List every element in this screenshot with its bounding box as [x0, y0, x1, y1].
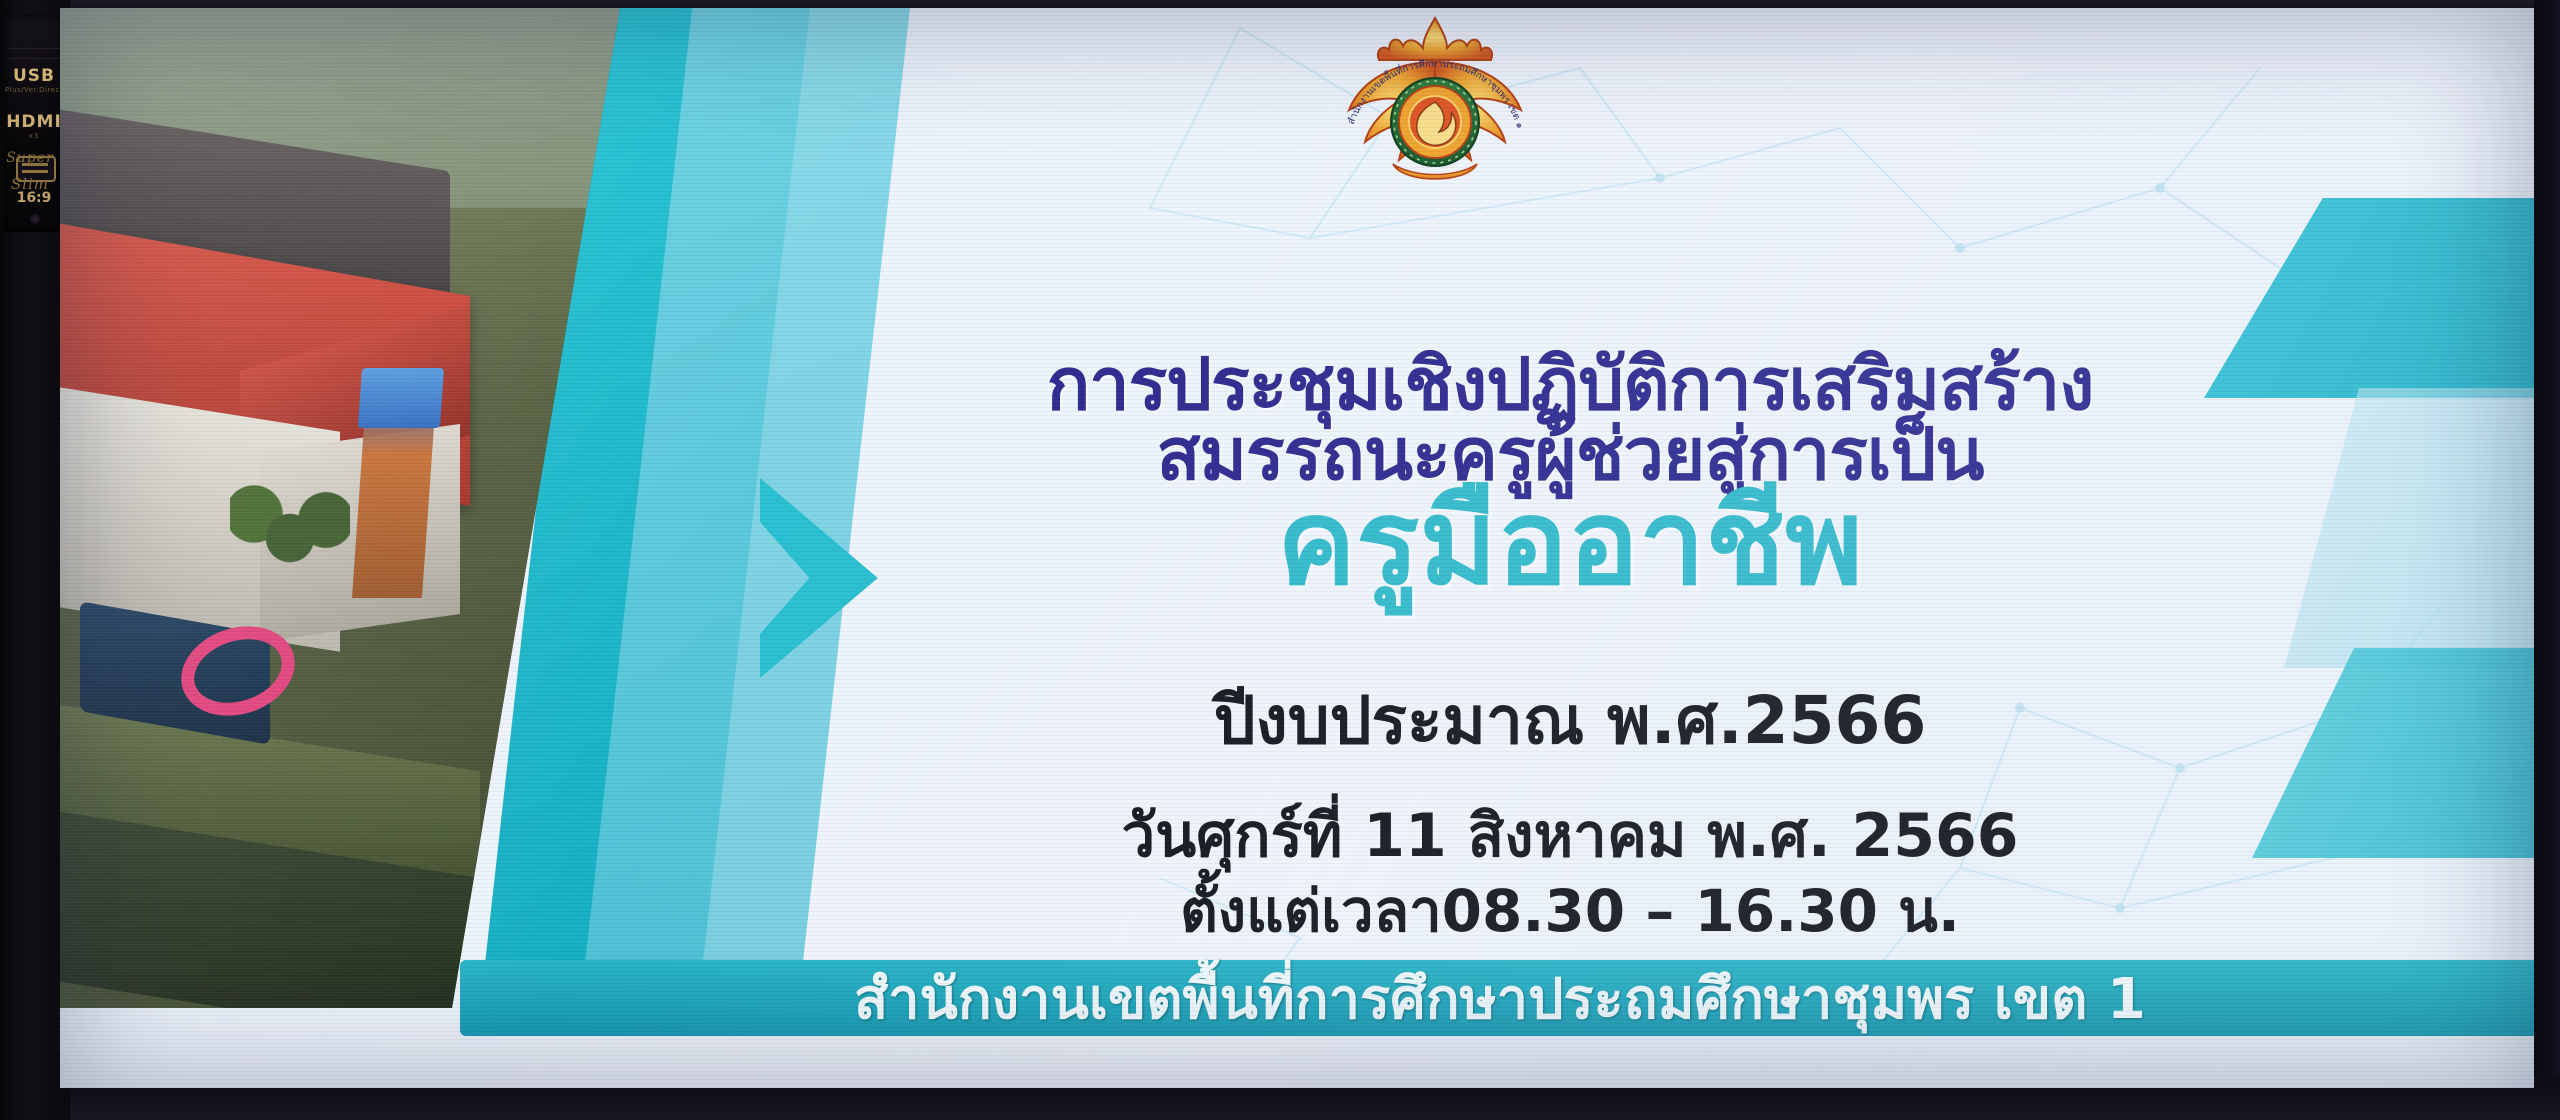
hdmi-port-label: HDMI — [4, 112, 64, 132]
slide-highlight-word: ครูมืออาชีพ — [620, 478, 2520, 608]
bezel-port-panel: USB Plus/Ver.Direct HDMI x3 16:9 — [4, 14, 64, 232]
brand-super-label: Super — [0, 150, 60, 166]
slide-text-block: การประชุมเชิงปฏิบัติการเสริมสร้าง สมรรถน… — [620, 8, 2520, 1008]
slide-footer-banner: สำนักงานเขตพื้นที่การศึกษาประถมศึกษาชุมพ… — [460, 960, 2534, 1036]
screenshot-root: USB Plus/Ver.Direct HDMI x3 16:9 Super S… — [0, 0, 2560, 1120]
presentation-slide: สำนักงานเขตพื้นที่การศึกษาประถมศึกษาชุมพ… — [60, 8, 2534, 1088]
power-indicator-dot — [30, 214, 40, 224]
hdmi-port-sublabel: x3 — [4, 132, 64, 140]
slide-budget-year: ปีงบประมาณ พ.ศ.2566 — [620, 668, 2520, 773]
slide-time-line: ตั้งแต่เวลา08.30 – 16.30 น. — [620, 864, 2520, 957]
brand-slim-label: Slim — [0, 175, 60, 193]
slide-footer-banner-text: สำนักงานเขตพื้นที่การศึกษาประถมศึกษาชุมพ… — [854, 954, 2146, 1043]
photo-frame-right — [2534, 0, 2560, 1120]
usb-port-sublabel: Plus/Ver.Direct — [4, 86, 64, 94]
usb-port-label: USB — [4, 66, 64, 86]
